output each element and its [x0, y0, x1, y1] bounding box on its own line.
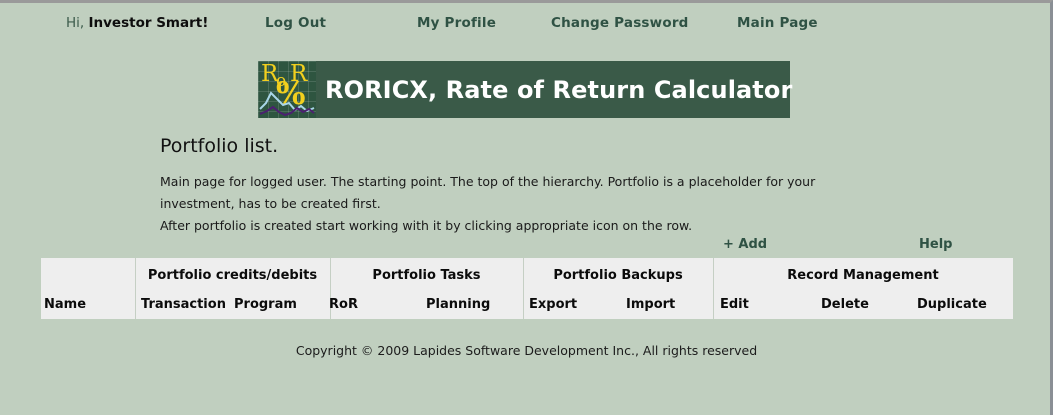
app-page: Hi, Investor Smart! Log Out My Profile C… — [0, 0, 1053, 415]
ror-chart-logo-icon: R o R % — [258, 61, 316, 118]
nav-my-profile[interactable]: My Profile — [417, 14, 496, 32]
group-header-portfolio-credits-debits: Portfolio credits/debits — [135, 268, 330, 283]
user-name: Investor Smart! — [89, 15, 209, 31]
portfolio-table: Portfolio credits/debits Portfolio Tasks… — [41, 258, 1013, 319]
greeting-prefix: Hi, — [66, 15, 84, 31]
top-navigation-bar: Hi, Investor Smart! Log Out My Profile C… — [0, 14, 1053, 36]
column-header-program: Program — [234, 297, 297, 312]
app-banner: R o R % RORICX, Rate of Return Calculato… — [258, 61, 790, 118]
add-portfolio-button[interactable]: + Add — [723, 237, 767, 252]
column-header-delete: Delete — [821, 297, 869, 312]
group-header-portfolio-backups: Portfolio Backups — [523, 268, 713, 283]
portfolio-table-header: Portfolio credits/debits Portfolio Tasks… — [41, 258, 1013, 319]
column-header-planning: Planning — [426, 297, 490, 312]
nav-change-password[interactable]: Change Password — [551, 14, 689, 32]
column-header-export: Export — [529, 297, 577, 312]
column-header-edit: Edit — [720, 297, 749, 312]
description-line-2: After portfolio is created start working… — [160, 215, 890, 237]
logo-chart-lines-icon — [258, 87, 316, 118]
nav-main-page[interactable]: Main Page — [737, 14, 818, 32]
nav-log-out[interactable]: Log Out — [265, 14, 326, 32]
column-header-duplicate: Duplicate — [917, 297, 987, 312]
column-header-import: Import — [626, 297, 675, 312]
column-header-ror: RoR — [329, 297, 358, 312]
page-title: Portfolio list. — [160, 135, 278, 157]
group-header-portfolio-tasks: Portfolio Tasks — [330, 268, 523, 283]
description-line-1: Main page for logged user. The starting … — [160, 171, 890, 215]
column-header-transaction: Transaction — [141, 297, 226, 312]
page-description: Main page for logged user. The starting … — [160, 171, 890, 237]
group-header-record-management: Record Management — [713, 268, 1013, 283]
banner-title: RORICX, Rate of Return Calculator — [325, 76, 792, 104]
column-header-name: Name — [44, 297, 86, 312]
help-link[interactable]: Help — [919, 237, 952, 252]
footer-copyright: Copyright © 2009 Lapides Software Develo… — [0, 343, 1053, 358]
user-greeting: Hi, Investor Smart! — [66, 14, 208, 32]
